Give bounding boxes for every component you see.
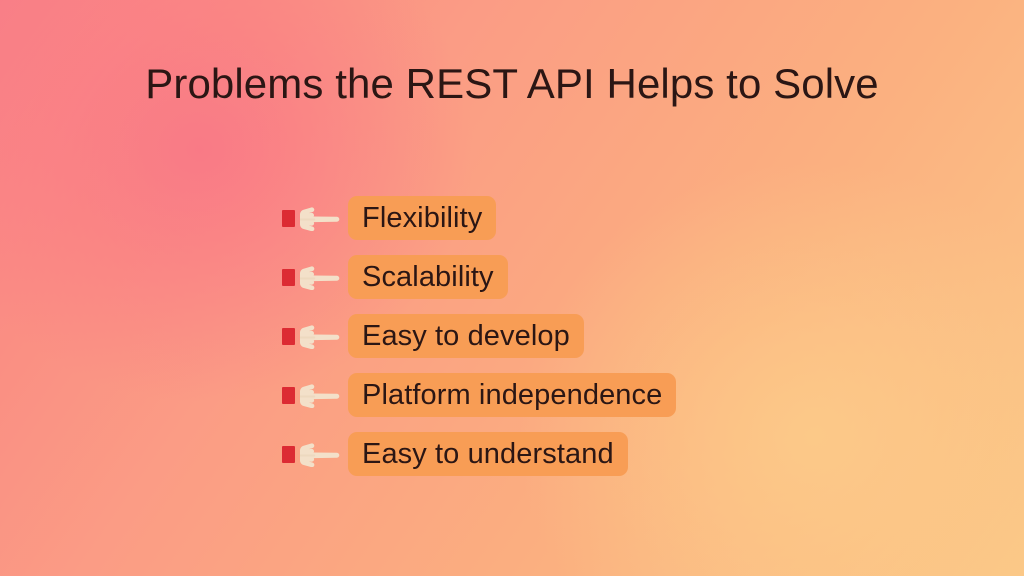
list-item: Easy to understand: [278, 432, 676, 476]
red-square-icon: [282, 269, 295, 286]
list-item: Easy to develop: [278, 314, 676, 358]
pointing-hand-icon: [295, 264, 340, 290]
pointing-hand-icon: [295, 441, 340, 467]
bullet-list: Flexibility Scalability: [278, 196, 676, 476]
list-item: Flexibility: [278, 196, 676, 240]
red-square-icon: [282, 210, 295, 227]
list-item-label: Platform independence: [348, 373, 676, 417]
bullet-marker: [278, 380, 340, 410]
list-item-label: Easy to develop: [348, 314, 584, 358]
pointing-hand-icon: [295, 382, 340, 408]
bullet-marker: [278, 321, 340, 351]
page-title: Problems the REST API Helps to Solve: [0, 58, 1024, 110]
red-square-icon: [282, 328, 295, 345]
slide-content: Problems the REST API Helps to Solve Fle…: [0, 0, 1024, 576]
red-square-icon: [282, 387, 295, 404]
bullet-marker: [278, 203, 340, 233]
pointing-hand-icon: [295, 205, 340, 231]
red-square-icon: [282, 446, 295, 463]
list-item-label: Scalability: [348, 255, 508, 299]
list-item: Scalability: [278, 255, 676, 299]
list-item-label: Flexibility: [348, 196, 496, 240]
slide-canvas: Problems the REST API Helps to Solve Fle…: [0, 0, 1024, 576]
bullet-marker: [278, 262, 340, 292]
list-item: Platform independence: [278, 373, 676, 417]
pointing-hand-icon: [295, 323, 340, 349]
bullet-marker: [278, 439, 340, 469]
list-item-label: Easy to understand: [348, 432, 628, 476]
